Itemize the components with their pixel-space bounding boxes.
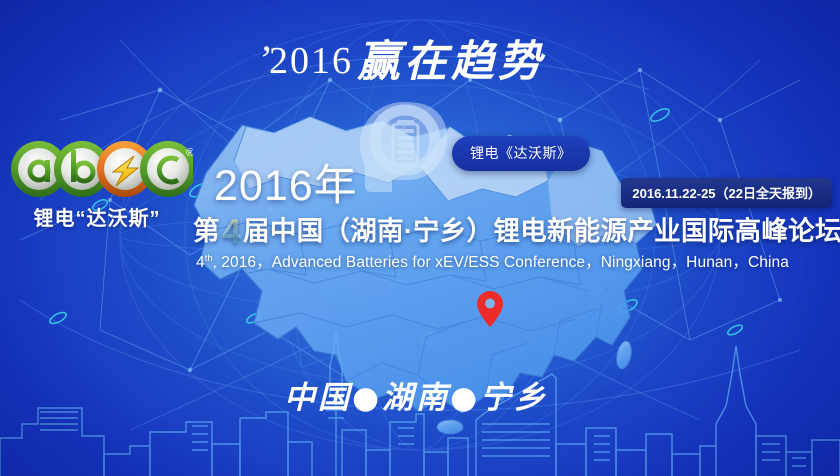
conference-poster: ’ 2016 赢在趋势 '2016 赢在趋势: [0, 0, 840, 476]
vignette-overlay: [0, 0, 840, 476]
